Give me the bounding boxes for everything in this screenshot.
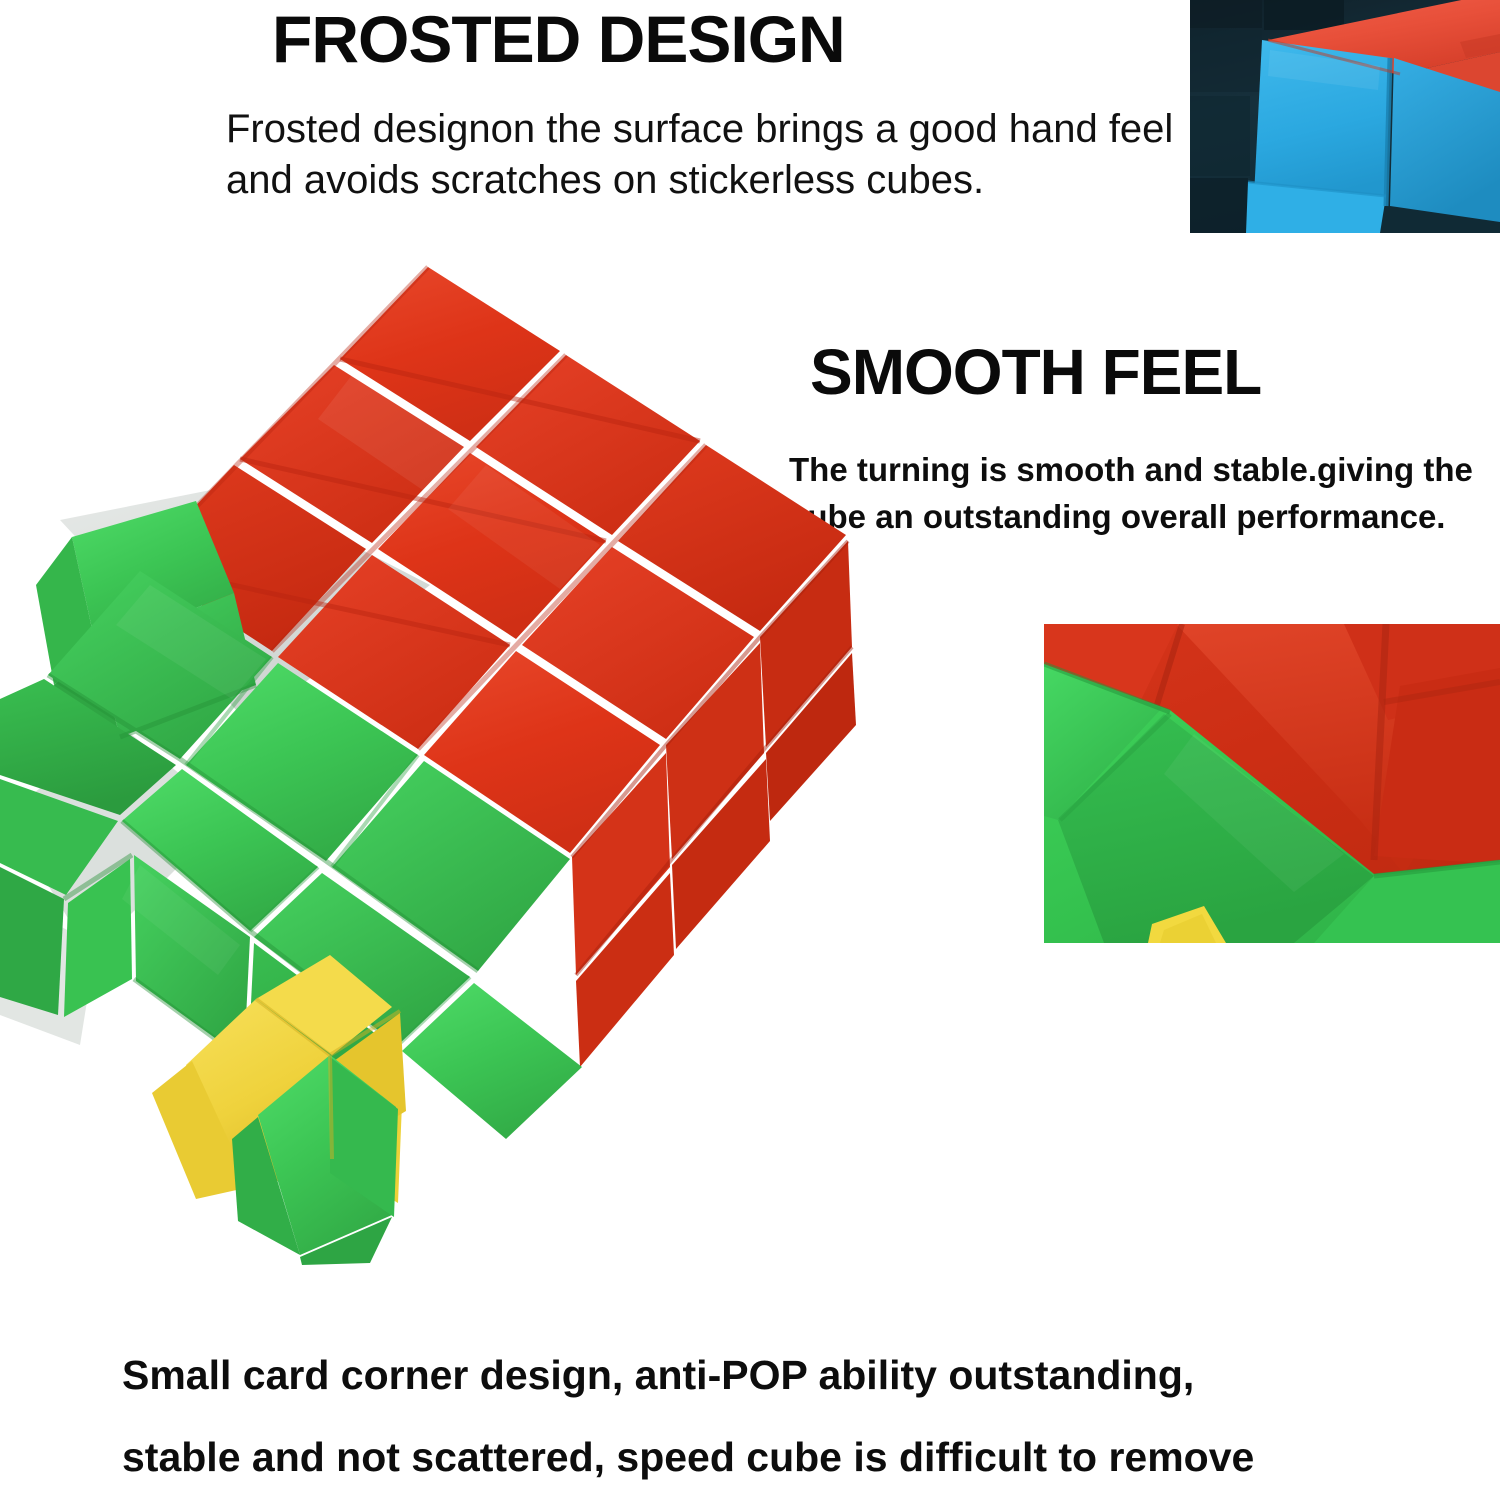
product-feature-image: FROSTED DESIGN Frosted designon the surf… (0, 0, 1500, 1500)
frosted-design-body-text: Frosted designon the surface brings a go… (226, 104, 1186, 206)
cube-macro-red-green-inset (1044, 624, 1500, 943)
cube-macro-blue-red-inset (1190, 0, 1500, 233)
bottom-caption-line-1: Small card corner design, anti-POP abili… (122, 1334, 1412, 1416)
cube-macro-blue-red-art (1190, 0, 1500, 233)
bottom-caption-line-2: stable and not scattered, speed cube is … (122, 1416, 1412, 1498)
frosted-design-heading: FROSTED DESIGN (272, 6, 845, 72)
cube-macro-red-green-art (1044, 624, 1500, 943)
speed-cube-photo (0, 255, 960, 1265)
speed-cube-illustration (0, 255, 960, 1265)
bottom-caption: Small card corner design, anti-POP abili… (122, 1334, 1412, 1498)
